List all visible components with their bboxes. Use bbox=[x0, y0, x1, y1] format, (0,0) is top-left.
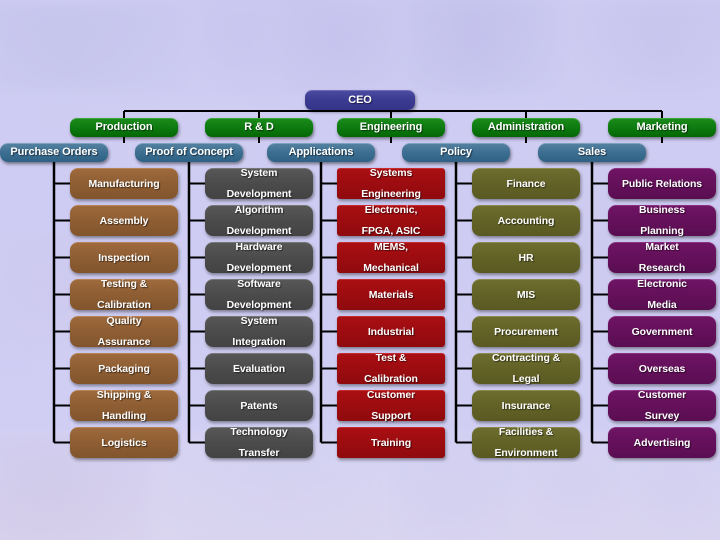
node-text-line: Patents bbox=[240, 401, 277, 412]
node-text-line: Mechanical bbox=[363, 263, 419, 274]
unit-node-mems-mechanical[interactable]: MEMS,Mechanical bbox=[337, 242, 445, 273]
node-text-line: Electronic bbox=[637, 279, 687, 290]
node-text-line: Purchase Orders bbox=[10, 147, 97, 158]
node-text-line: Integration bbox=[232, 337, 285, 348]
unit-node-shipping-handling[interactable]: Shipping &Handling bbox=[70, 390, 178, 421]
node-text-line: Research bbox=[639, 263, 685, 274]
staff-node-sales[interactable]: Sales bbox=[538, 143, 646, 162]
node-text-line: Engineering bbox=[361, 189, 421, 200]
node-text-line: Packaging bbox=[98, 364, 150, 375]
unit-node-advertising[interactable]: Advertising bbox=[608, 427, 716, 458]
node-text-line: Technology bbox=[230, 427, 287, 438]
node-text-line: Calibration bbox=[364, 374, 418, 385]
node-text-line: MEMS, bbox=[374, 242, 408, 253]
division-node-engineering[interactable]: Engineering bbox=[337, 118, 445, 137]
node-text-line: Support bbox=[371, 411, 411, 422]
node-text-line: Calibration bbox=[97, 300, 151, 311]
node-text-line: Logistics bbox=[101, 438, 146, 449]
unit-node-contracting-legal[interactable]: Contracting &Legal bbox=[472, 353, 580, 384]
node-text-line: Engineering bbox=[360, 122, 422, 133]
node-text-line: Assurance bbox=[98, 337, 151, 348]
node-text-line: Customer bbox=[367, 390, 415, 401]
unit-node-systems-engineering[interactable]: SystemsEngineering bbox=[337, 168, 445, 199]
division-node-production[interactable]: Production bbox=[70, 118, 178, 137]
unit-node-customer-survey[interactable]: CustomerSurvey bbox=[608, 390, 716, 421]
unit-node-algorithm-development[interactable]: AlgorithmDevelopment bbox=[205, 205, 313, 236]
node-text-line: Industrial bbox=[368, 327, 414, 338]
unit-node-finance[interactable]: Finance bbox=[472, 168, 580, 199]
node-text-line: Development bbox=[227, 300, 292, 311]
org-chart: CEOProductionPurchase OrdersManufacturin… bbox=[0, 0, 720, 540]
node-text-line: Survey bbox=[645, 411, 679, 422]
unit-node-mis[interactable]: MIS bbox=[472, 279, 580, 310]
node-text-line: Development bbox=[227, 189, 292, 200]
node-text-line: Evaluation bbox=[233, 364, 285, 375]
node-text-line: Contracting & bbox=[492, 353, 560, 364]
unit-node-public-relations[interactable]: Public Relations bbox=[608, 168, 716, 199]
node-text-line: Administration bbox=[488, 122, 564, 133]
node-text-line: Test & bbox=[376, 353, 407, 364]
node-text-line: Manufacturing bbox=[88, 179, 159, 190]
unit-node-system-development[interactable]: SystemDevelopment bbox=[205, 168, 313, 199]
node-text-line: Training bbox=[371, 438, 411, 449]
node-text-line: Transfer bbox=[239, 448, 280, 459]
node-text-line: Policy bbox=[440, 147, 472, 158]
unit-node-inspection[interactable]: Inspection bbox=[70, 242, 178, 273]
unit-node-customer-support[interactable]: CustomerSupport bbox=[337, 390, 445, 421]
unit-node-hr[interactable]: HR bbox=[472, 242, 580, 273]
node-text-line: Public Relations bbox=[622, 179, 702, 190]
unit-node-manufacturing[interactable]: Manufacturing bbox=[70, 168, 178, 199]
node-text-line: Marketing bbox=[636, 122, 687, 133]
node-text-line: Overseas bbox=[639, 364, 686, 375]
node-text-line: FPGA, ASIC bbox=[362, 226, 421, 237]
node-text-line: Materials bbox=[369, 290, 414, 301]
node-text-line: MIS bbox=[517, 290, 535, 301]
unit-node-test-calibration[interactable]: Test &Calibration bbox=[337, 353, 445, 384]
unit-node-business-planning[interactable]: BusinessPlanning bbox=[608, 205, 716, 236]
node-text-line: Planning bbox=[640, 226, 684, 237]
node-text-line: Development bbox=[227, 226, 292, 237]
node-text-line: System bbox=[241, 168, 278, 179]
unit-node-testing-calibration[interactable]: Testing &Calibration bbox=[70, 279, 178, 310]
node-text-line: Media bbox=[647, 300, 676, 311]
node-text-line: Handling bbox=[102, 411, 146, 422]
node-text-line: Finance bbox=[507, 179, 546, 190]
division-node-administration[interactable]: Administration bbox=[472, 118, 580, 137]
node-text-line: Development bbox=[227, 263, 292, 274]
node-text-line: Accounting bbox=[498, 216, 555, 227]
node-text-line: System bbox=[241, 316, 278, 327]
node-text-line: Insurance bbox=[502, 401, 551, 412]
node-text-line: Environment bbox=[494, 448, 557, 459]
unit-node-market-research[interactable]: MarketResearch bbox=[608, 242, 716, 273]
unit-node-insurance[interactable]: Insurance bbox=[472, 390, 580, 421]
node-text-line: Testing & bbox=[101, 279, 147, 290]
node-text-line: Hardware bbox=[235, 242, 282, 253]
node-text-line: Proof of Concept bbox=[145, 147, 233, 158]
node-text-line: Assembly bbox=[100, 216, 149, 227]
unit-node-training[interactable]: Training bbox=[337, 427, 445, 458]
unit-node-accounting[interactable]: Accounting bbox=[472, 205, 580, 236]
node-text-line: R & D bbox=[244, 122, 273, 133]
node-text-line: Electronic, bbox=[365, 205, 418, 216]
node-text-line: Facilities & bbox=[499, 427, 553, 438]
unit-node-procurement[interactable]: Procurement bbox=[472, 316, 580, 347]
unit-node-technology-transfer[interactable]: TechnologyTransfer bbox=[205, 427, 313, 458]
unit-node-evaluation[interactable]: Evaluation bbox=[205, 353, 313, 384]
unit-node-quality-assurance[interactable]: QualityAssurance bbox=[70, 316, 178, 347]
node-text-line: Advertising bbox=[634, 438, 691, 449]
unit-node-materials[interactable]: Materials bbox=[337, 279, 445, 310]
unit-node-patents[interactable]: Patents bbox=[205, 390, 313, 421]
node-text-line: Production bbox=[95, 122, 152, 133]
unit-node-assembly[interactable]: Assembly bbox=[70, 205, 178, 236]
node-text-line: Applications bbox=[289, 147, 354, 158]
unit-node-packaging[interactable]: Packaging bbox=[70, 353, 178, 384]
staff-node-policy[interactable]: Policy bbox=[402, 143, 510, 162]
node-text-line: Systems bbox=[370, 168, 413, 179]
unit-node-electronic-fpga-asic[interactable]: Electronic,FPGA, ASIC bbox=[337, 205, 445, 236]
unit-node-facilities-environment[interactable]: Facilities &Environment bbox=[472, 427, 580, 458]
unit-node-logistics[interactable]: Logistics bbox=[70, 427, 178, 458]
root-node-ceo[interactable]: CEO bbox=[305, 90, 415, 110]
division-node-marketing[interactable]: Marketing bbox=[608, 118, 716, 137]
node-text-line: Software bbox=[237, 279, 281, 290]
node-text-line: Government bbox=[632, 327, 693, 338]
node-text-line: Quality bbox=[107, 316, 142, 327]
unit-node-industrial[interactable]: Industrial bbox=[337, 316, 445, 347]
staff-node-applications[interactable]: Applications bbox=[267, 143, 375, 162]
node-text-line: Legal bbox=[513, 374, 540, 385]
node-text-line: Sales bbox=[578, 147, 606, 158]
unit-node-electronic-media[interactable]: ElectronicMedia bbox=[608, 279, 716, 310]
node-text-line: Business bbox=[639, 205, 685, 216]
node-text-line: Inspection bbox=[98, 253, 150, 264]
unit-node-hardware-development[interactable]: HardwareDevelopment bbox=[205, 242, 313, 273]
unit-node-system-integration[interactable]: SystemIntegration bbox=[205, 316, 313, 347]
node-text-line: HR bbox=[519, 253, 534, 264]
division-node-r-d[interactable]: R & D bbox=[205, 118, 313, 137]
node-text-line: Algorithm bbox=[235, 205, 284, 216]
node-text-line: CEO bbox=[348, 95, 372, 106]
node-text-line: Customer bbox=[638, 390, 686, 401]
node-text-line: Procurement bbox=[494, 327, 558, 338]
unit-node-government[interactable]: Government bbox=[608, 316, 716, 347]
unit-node-software-development[interactable]: SoftwareDevelopment bbox=[205, 279, 313, 310]
node-text-line: Market bbox=[645, 242, 678, 253]
staff-node-purchase-orders[interactable]: Purchase Orders bbox=[0, 143, 108, 162]
staff-node-proof-of-concept[interactable]: Proof of Concept bbox=[135, 143, 243, 162]
node-text-line: Shipping & bbox=[97, 390, 151, 401]
unit-node-overseas[interactable]: Overseas bbox=[608, 353, 716, 384]
